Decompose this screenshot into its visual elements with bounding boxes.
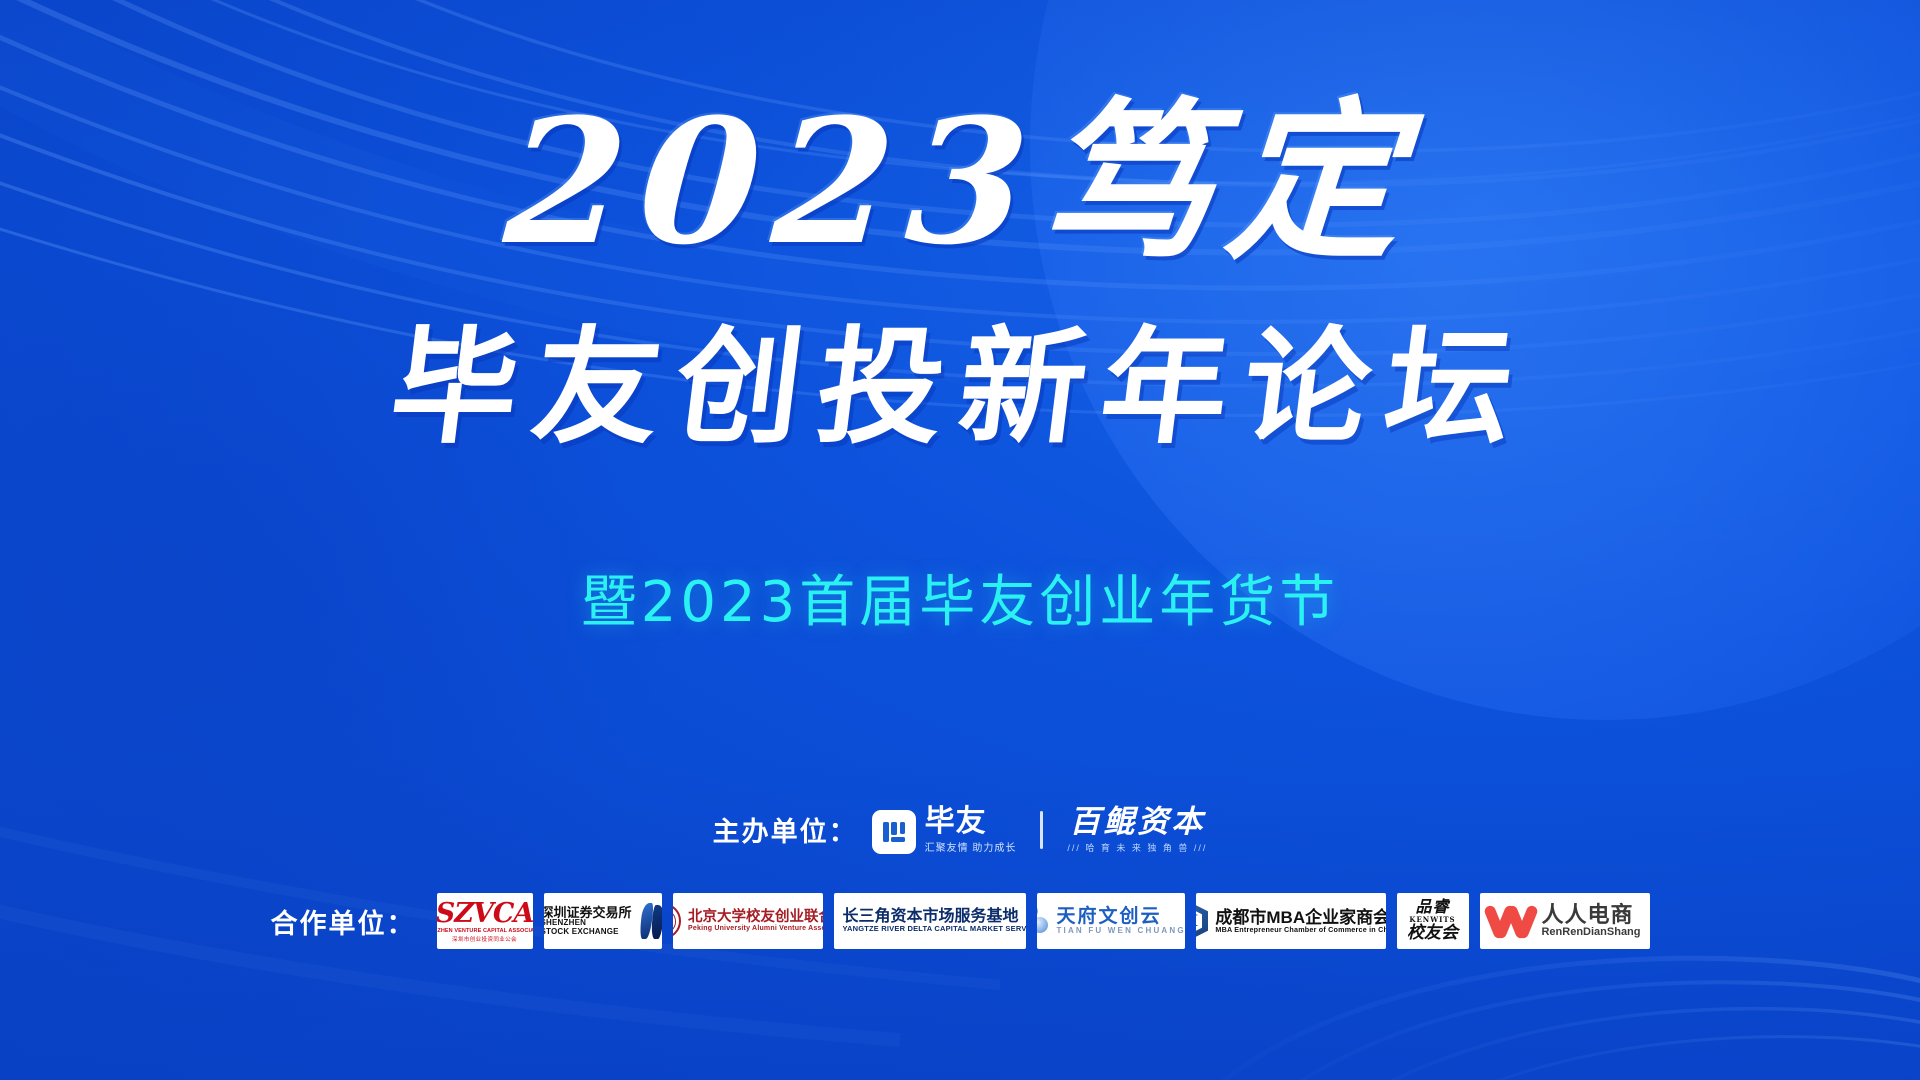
ui-mark-icon (872, 810, 916, 854)
tfwc-en: TIAN FU WEN CHUANG YUN (1056, 927, 1184, 935)
szvca-abbr: SZVCA (437, 900, 533, 927)
poster-content: 2023笃定 毕友创投新年论坛 暨2023首届毕友创业年货节 主办单位： 毕友 … (0, 0, 1920, 1080)
logo-divider (1040, 811, 1043, 849)
yrd-cn: 长三角资本市场服务基地 (842, 909, 1025, 925)
kenwits-cn2: 校友会 (1407, 925, 1458, 943)
biyou-logo: 毕友 汇聚友情 助力成长 (872, 806, 1017, 854)
biyou-name: 毕友 (925, 806, 987, 838)
organizer-row: 主办单位： 毕友 汇聚友情 助力成长 百鲲资本 (0, 806, 1920, 854)
pku-cn: 北京大学校友创业联合会 (688, 910, 822, 925)
mba-en: MBA Entrepreneur Chamber of Commerce in … (1215, 926, 1385, 933)
biyou-tagline: 汇聚友情 助力成长 (925, 839, 1017, 854)
szvca-en: SHENZHEN VENTURE CAPITAL ASSOCIATION (437, 928, 533, 934)
partners-row: 合作单位： SZVCA SHENZHEN VENTURE CAPITAL ASS… (0, 893, 1920, 949)
partner-logo-kenwits[interactable]: 品睿 KENWITS 校友会 (1397, 893, 1469, 949)
shenzhen-exchange-icon (639, 903, 662, 939)
mba-cn: 成都市MBA企业家商会 (1215, 909, 1385, 926)
tfwc-cn: 天府文创云 (1056, 907, 1184, 926)
page-subtitle: 暨2023首届毕友创业年货节 (0, 575, 1920, 631)
baikun-name: 百鲲资本 (1069, 806, 1205, 839)
partner-logo-tianfu-wenchuangyun[interactable]: 天府文创云 TIAN FU WEN CHUANG YUN (1037, 893, 1185, 949)
szse-en-line2: STOCK EXCHANGE (544, 928, 632, 936)
page-title: 毕友创投新年论坛 (0, 320, 1920, 456)
szse-cn: 深圳证券交易所 (544, 906, 632, 919)
partner-logo-shenzhen-stock-exchange[interactable]: 深圳证券交易所 SHENZHEN STOCK EXCHANGE (544, 893, 662, 949)
szvca-cn: 深圳市创业投资同业公会 (452, 935, 517, 943)
kenwits-cn1: 品睿 (1415, 899, 1449, 915)
organizer-label: 主办单位： (713, 810, 858, 849)
partner-logo-szvca[interactable]: SZVCA SHENZHEN VENTURE CAPITAL ASSOCIATI… (437, 893, 533, 949)
baikun-tagline: /// 哈 育 未 来 独 角 兽 /// (1067, 841, 1207, 854)
partners-label: 合作单位： (271, 902, 416, 941)
tianfu-cloud-icon (1037, 903, 1050, 939)
partner-logo-chengdu-mba[interactable]: M 成都市MBA企业家商会 MBA Entrepreneur Chamber o… (1196, 893, 1386, 949)
partner-logo-yangtze-river-delta[interactable]: 长 长三角资本市场服务基地 YANGTZE RIVER DELTA CAPITA… (834, 893, 1026, 949)
renren-en: RenRenDianShang (1541, 927, 1640, 938)
yrd-en: YANGTZE RIVER DELTA CAPITAL MARKET SERVI… (842, 925, 1025, 933)
mba-hexagon-icon: M (1196, 902, 1209, 940)
pku-seal-icon: 北 (673, 903, 682, 939)
partner-logo-renrendianshang[interactable]: 人人电商 RenRenDianShang (1480, 893, 1650, 949)
yangtze-delta-icon: 长 (834, 901, 836, 941)
brush-title: 2023笃定 (0, 96, 1920, 268)
renren-m-icon (1488, 903, 1534, 939)
baikun-logo: 百鲲资本 /// 哈 育 未 来 独 角 兽 /// (1067, 806, 1207, 854)
pku-en: Peking University Alumni Venture Associa… (688, 925, 822, 932)
poster-canvas: 2023笃定 毕友创投新年论坛 暨2023首届毕友创业年货节 主办单位： 毕友 … (0, 0, 1920, 1080)
partner-logo-peking-university[interactable]: 北 北京大学校友创业联合会 Peking University Alumni V… (673, 893, 823, 949)
renren-cn: 人人电商 (1541, 904, 1640, 926)
